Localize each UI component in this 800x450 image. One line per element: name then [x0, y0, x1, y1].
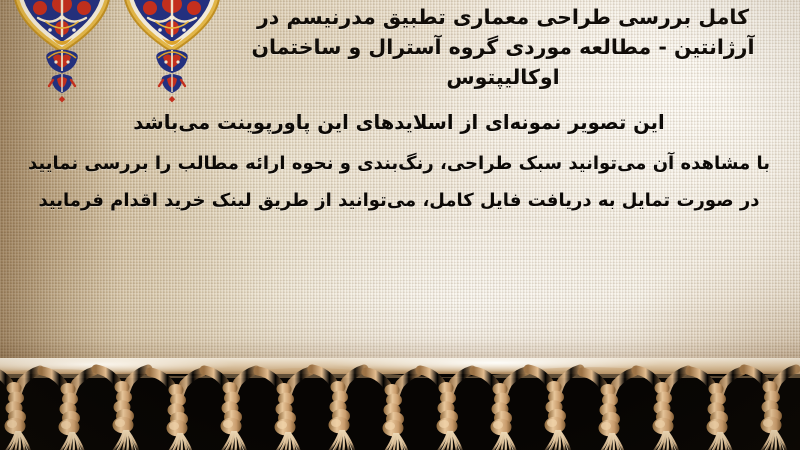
- slide-title-line-3: اوکالیپتوس: [220, 62, 786, 92]
- slide-canvas: کامل بررسی طراحی معماری تطبیق مدرنیسم در…: [0, 0, 800, 450]
- fringe-tassels-svg: [0, 358, 800, 450]
- slide-title-line-1: کامل بررسی طراحی معماری تطبیق مدرنیسم در: [220, 2, 786, 32]
- body-line-2: با مشاهده آن می‌توانید سبک طراحی، رنگ‌بن…: [8, 149, 790, 178]
- slide-title-line-2: آرژانتین - مطالعه موردی گروه آسترال و سا…: [220, 32, 786, 62]
- slide-title: کامل بررسی طراحی معماری تطبیق مدرنیسم در…: [220, 2, 786, 92]
- tassel-row: [0, 369, 796, 450]
- slide-body: این تصویر نمونه‌ای از اسلایدهای این پاور…: [8, 108, 790, 215]
- body-line-1: این تصویر نمونه‌ای از اسلایدهای این پاور…: [8, 108, 790, 137]
- carpet-fringe-band: [0, 358, 800, 450]
- body-line-3: در صورت تمایل به دریافت فایل کامل، می‌تو…: [8, 186, 790, 215]
